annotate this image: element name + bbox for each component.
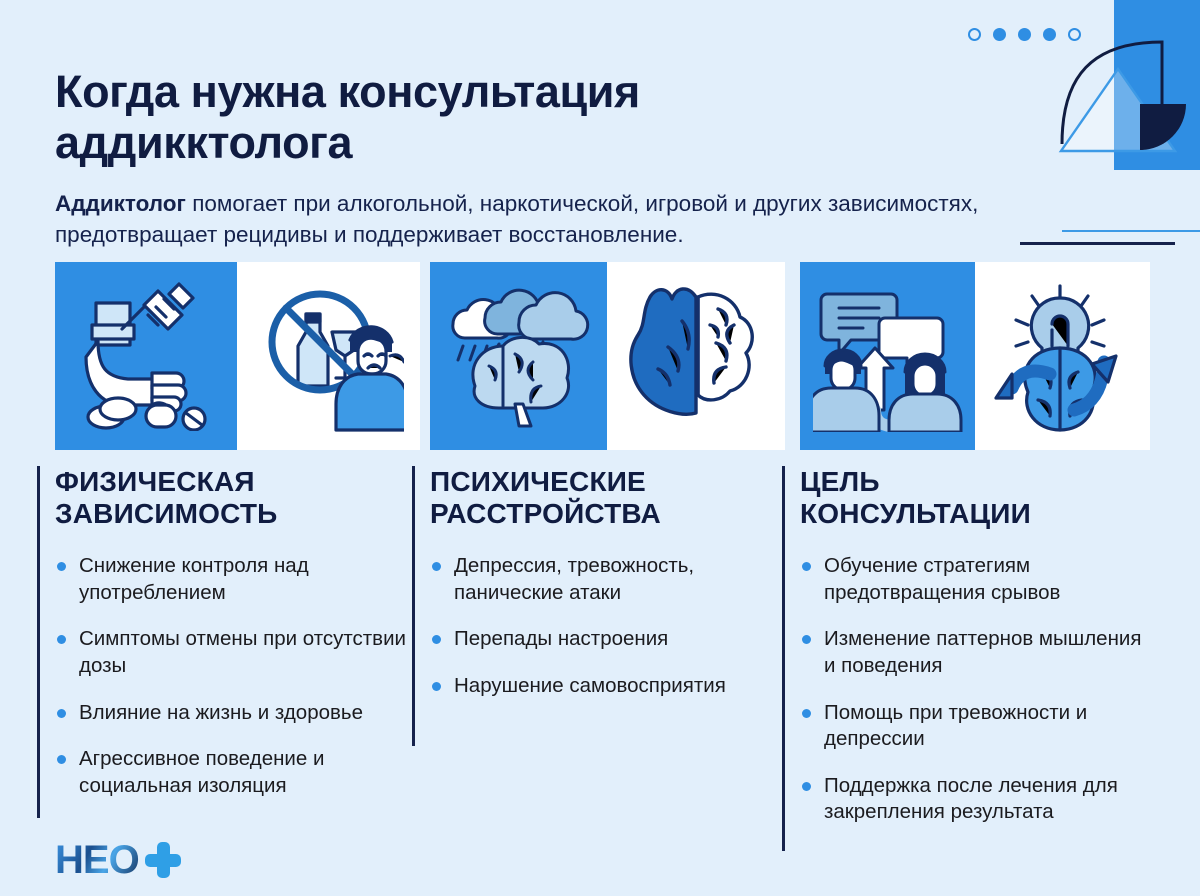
column-3-heading-line-1: ЦЕЛЬ [800, 466, 880, 497]
list-item: Перепады настроения [430, 626, 770, 653]
brand-logo: НЕО [55, 840, 181, 880]
page-title: Когда нужна консультация аддикктолога [55, 66, 875, 169]
dot-4-icon [1043, 28, 1056, 41]
dot-1-icon [968, 28, 981, 41]
page-title-line-2: аддикктолога [55, 117, 875, 168]
storm-clouds-brain-icon [445, 280, 593, 432]
arm-syringe-pills-icon [76, 281, 216, 431]
dot-2-icon [993, 28, 1006, 41]
column-physical-dependence: ФИЗИЧЕСКАЯ ЗАВИСИМОСТЬ Снижение контроля… [55, 466, 410, 819]
heart-brain-icon [624, 281, 768, 431]
panel-3-left-tile [800, 262, 975, 450]
panel-2-right-tile [607, 262, 785, 450]
column-consultation-goal: ЦЕЛЬ КОНСУЛЬТАЦИИ Обучение стратегиям пр… [800, 466, 1150, 846]
list-item: Депрессия, тревожность, панические атаки [430, 553, 770, 606]
page-title-line-1: Когда нужна консультация [55, 66, 640, 117]
column-2-divider [412, 466, 415, 746]
column-3-heading: ЦЕЛЬ КОНСУЛЬТАЦИИ [800, 466, 1150, 531]
dot-3-icon [1018, 28, 1031, 41]
column-3-bullet-list: Обучение стратегиям предотвращения срыво… [800, 553, 1150, 826]
panel-3-right-tile [975, 262, 1150, 450]
subtitle-rest: помогает при алкогольной, наркотической,… [55, 191, 978, 248]
list-item: Поддержка после лечения для закрепления … [800, 773, 1150, 826]
icon-panel-row [0, 262, 1200, 450]
column-1-heading: ФИЗИЧЕСКАЯ ЗАВИСИМОСТЬ [55, 466, 410, 531]
column-1-heading-line-1: ФИЗИЧЕСКАЯ [55, 466, 255, 497]
column-1-divider [37, 466, 40, 818]
column-mental-disorders: ПСИХИЧЕСКИЕ РАССТРОЙСТВА Депрессия, трев… [430, 466, 770, 720]
column-2-bullet-list: Депрессия, тревожность, панические атаки… [430, 553, 770, 700]
icon-panel-mental [430, 262, 785, 450]
column-3-divider [782, 466, 785, 851]
list-item: Помощь при тревожности и депрессии [800, 700, 1150, 753]
icon-panel-physical [55, 262, 420, 450]
brain-lightbulb-arrows-icon [988, 280, 1138, 432]
list-item: Нарушение самовосприятия [430, 673, 770, 700]
list-item: Симптомы отмены при отсутствии дозы [55, 626, 410, 679]
no-alcohol-sad-person-icon [254, 280, 404, 432]
icon-panel-goal [800, 262, 1150, 450]
panel-1-left-tile [55, 262, 237, 450]
list-item: Влияние на жизнь и здоровье [55, 700, 410, 727]
column-1-heading-line-2: ЗАВИСИМОСТЬ [55, 498, 278, 529]
column-1-bullet-list: Снижение контроля над употреблением Симп… [55, 553, 410, 799]
panel-2-left-tile [430, 262, 607, 450]
panel-1-right-tile [237, 262, 420, 450]
logo-plus-icon [145, 842, 181, 878]
infographic-canvas: Когда нужна консультация аддикктолога Ад… [0, 0, 1200, 896]
subtitle-lead-word: Аддиктолог [55, 191, 186, 216]
column-2-heading-line-2: РАССТРОЙСТВА [430, 498, 661, 529]
column-3-heading-line-2: КОНСУЛЬТАЦИИ [800, 498, 1031, 529]
list-item: Изменение паттернов мышления и поведения [800, 626, 1150, 679]
list-item: Агрессивное поведение и социальная изоля… [55, 746, 410, 799]
column-2-heading-line-1: ПСИХИЧЕСКИЕ [430, 466, 646, 497]
logo-wordmark: НЕО [55, 840, 139, 880]
column-2-heading: ПСИХИЧЕСКИЕ РАССТРОЙСТВА [430, 466, 770, 531]
list-item: Обучение стратегиям предотвращения срыво… [800, 553, 1150, 606]
page-subtitle: Аддиктолог помогает при алкогольной, нар… [55, 188, 1115, 252]
list-item: Снижение контроля над употреблением [55, 553, 410, 606]
two-people-speech-bubbles-arrows-icon [813, 280, 963, 432]
